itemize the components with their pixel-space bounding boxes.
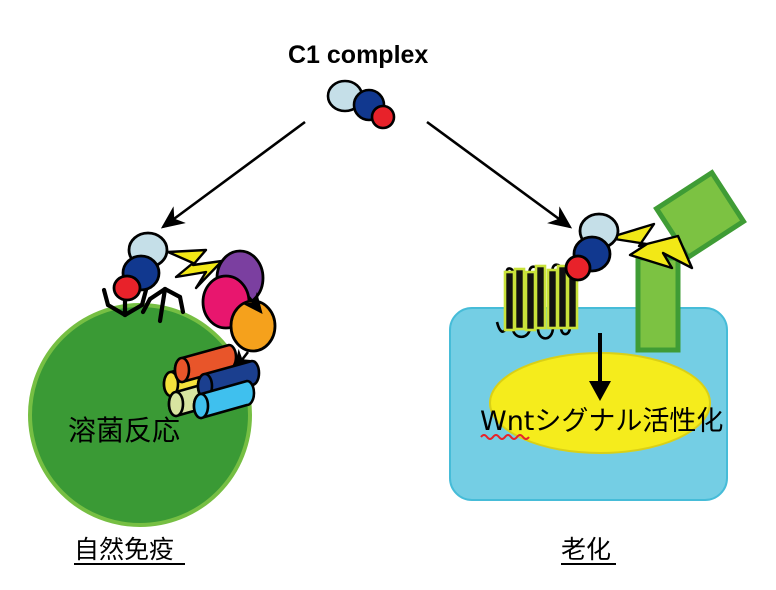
helix-1: [505, 272, 514, 330]
c1-complex-glyph-right: [566, 214, 618, 280]
wnt-signal-label: Wntシグナル活性化: [480, 406, 723, 437]
lysis-label: 溶菌反応: [68, 414, 180, 447]
branch-aging: Wntシグナル活性化: [450, 173, 743, 500]
helix-3: [548, 270, 557, 328]
c1-complex-glyph-left: [114, 233, 167, 300]
c1s-red-icon: [114, 276, 140, 300]
figure-canvas: C1 complex: [0, 0, 776, 590]
bottom-label-aging: 老化: [561, 535, 611, 564]
arrow-to-aging: [427, 122, 570, 227]
seven-transmembrane-receptor: [505, 266, 577, 330]
helix-6: [515, 269, 524, 329]
c1s-red-icon: [372, 106, 394, 128]
arrow-to-innate-immunity: [163, 122, 305, 227]
c1s-red-icon: [566, 256, 590, 280]
branch-innate-immunity: 溶菌反応: [30, 233, 275, 525]
helix-2: [526, 272, 535, 330]
page-title: C1 complex: [288, 41, 428, 69]
wnt-ligand-vertical: [638, 258, 678, 350]
c3-oval-icon: [231, 301, 275, 351]
c1-complex-glyph-top: [328, 81, 394, 128]
bottom-label-innate-immunity: 自然免疫: [74, 535, 174, 564]
helix-5: [558, 266, 567, 328]
helix-4: [536, 266, 545, 328]
